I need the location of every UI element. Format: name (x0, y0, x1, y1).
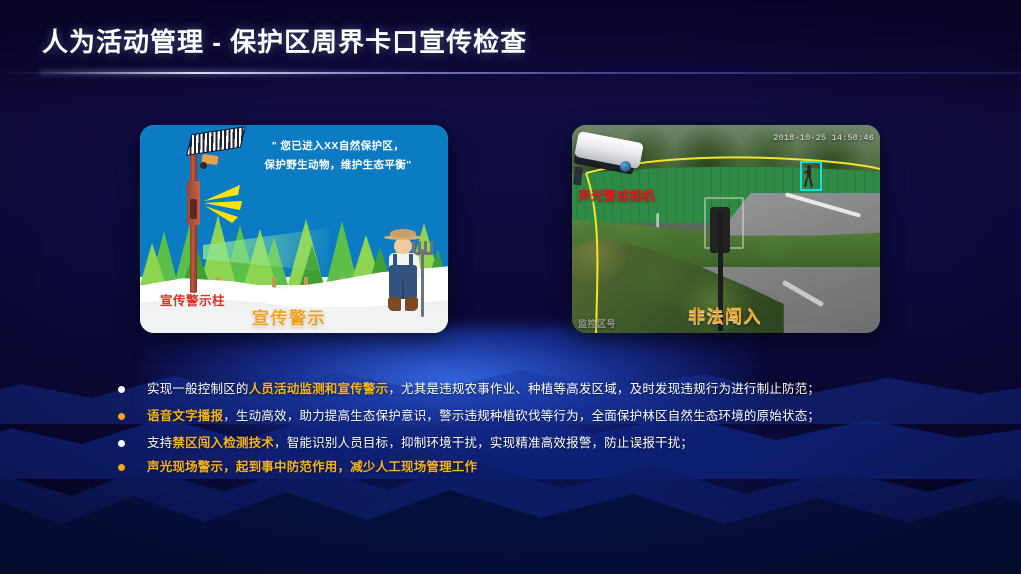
label-alarm-camera: 声光警戒相机 (578, 185, 655, 204)
bullet-dot-icon (118, 440, 125, 447)
label-illegal-intrusion: 非法闯入 (688, 302, 762, 327)
bullet-item: 实现一般控制区的人员活动监测和宣传警示，尤其是违规农事作业、种植等高发区域，及时… (118, 380, 948, 399)
broadcast-quote: " 您已进入XX自然保护区， 保护野生动物，维护生态平衡" (236, 137, 440, 176)
bullet-plain: ，尤其是违规农事作业、种植等高发区域，及时发现违规行为进行制止防范； (388, 382, 820, 396)
broadcast-quote-line1: " 您已进入XX自然保护区， (236, 137, 440, 156)
farmer-boot-left (388, 297, 401, 311)
bullet-plain: 支持 (147, 436, 172, 450)
farmer-boot-right (405, 297, 418, 311)
bullet-plain: ，生动高效，助力提高生态保护意识，警示违规种植砍伐等行为，全面保护林区自然生态环… (223, 409, 820, 423)
illustration-card: " 您已进入XX自然保护区， 保护野生动物，维护生态平衡" 宣传警示柱 宣传警示 (140, 125, 448, 333)
label-warning-pillar: 宣传警示柱 (160, 290, 225, 309)
warning-pillar-speaker-icon (190, 199, 197, 219)
slide-canvas: 人为活动管理 - 保护区周界卡口宣传检查 (0, 0, 1021, 574)
bullet-highlight: 人员活动监测和宣传警示 (249, 382, 389, 396)
pitchfork-tines-icon (412, 241, 434, 253)
surveillance-photo: 2018-10-25 14:50:46 监控区号 声光警戒相机 非法闯入 (572, 125, 880, 333)
bullet-text: 声光现场警示，起到事中防范作用，减少人工现场管理工作 (147, 458, 477, 477)
bullet-highlight: 声光现场警示，起到事中防范作用，减少人工现场管理工作 (147, 460, 477, 474)
bullet-list: 实现一般控制区的人员活动监测和宣传警示，尤其是违规农事作业、种植等高发区域，及时… (118, 380, 948, 485)
bullet-text: 实现一般控制区的人员活动监测和宣传警示，尤其是违规农事作业、种植等高发区域，及时… (147, 380, 820, 399)
bullet-plain: ，智能识别人员目标，抑制环境干扰，实现精准高效报警，防止误报干扰； (274, 436, 693, 450)
bullet-dot-icon (118, 413, 125, 420)
illustration-alert-flash (202, 179, 246, 223)
bullet-item: 声光现场警示，起到事中防范作用，减少人工现场管理工作 (118, 458, 948, 477)
bullet-highlight: 禁区闯入检测技术 (172, 436, 274, 450)
surveillance-photo-card: 2018-10-25 14:50:46 监控区号 声光警戒相机 非法闯入 (572, 125, 880, 333)
bullet-dot-icon (118, 386, 125, 393)
bullet-plain: 实现一般控制区的 (147, 382, 249, 396)
illustration: " 您已进入XX自然保护区， 保护野生动物，维护生态平衡" 宣传警示柱 宣传警示 (140, 125, 448, 333)
farmer-hat-crown (390, 229, 416, 238)
photo-timestamp: 2018-10-25 14:50:46 (773, 133, 874, 143)
farmer-leg-seam (402, 281, 404, 299)
intruder-figure (804, 165, 813, 187)
bullet-text: 语音文字播报，生动高效，助力提高生态保护意识，警示违规种植砍伐等行为，全面保护林… (147, 407, 820, 426)
farmer-head (394, 238, 412, 254)
title-divider (0, 72, 1021, 74)
broadcast-quote-line2: 保护野生动物，维护生态平衡" (236, 156, 440, 175)
bullet-highlight: 语音文字播报 (147, 409, 223, 423)
page-title: 人为活动管理 - 保护区周界卡口宣传检查 (42, 22, 527, 59)
title-block: 人为活动管理 - 保护区周界卡口宣传检查 (0, 0, 1021, 78)
pitchfork-handle-icon (421, 249, 424, 317)
farmer-figure (380, 229, 426, 315)
bullet-item: 语音文字播报，生动高效，助力提高生态保护意识，警示违规种植砍伐等行为，全面保护林… (118, 407, 948, 426)
photo-watermark: 监控区号 (578, 317, 616, 330)
bullet-text: 支持禁区闯入检测技术，智能识别人员目标，抑制环境干扰，实现精准高效报警，防止误报… (147, 434, 693, 453)
bullet-item: 支持禁区闯入检测技术，智能识别人员目标，抑制环境干扰，实现精准高效报警，防止误报… (118, 434, 948, 453)
bullet-dot-icon (118, 464, 125, 471)
label-broadcast-warning: 宣传警示 (252, 304, 326, 329)
pillar-camera-lens-icon (200, 162, 207, 169)
